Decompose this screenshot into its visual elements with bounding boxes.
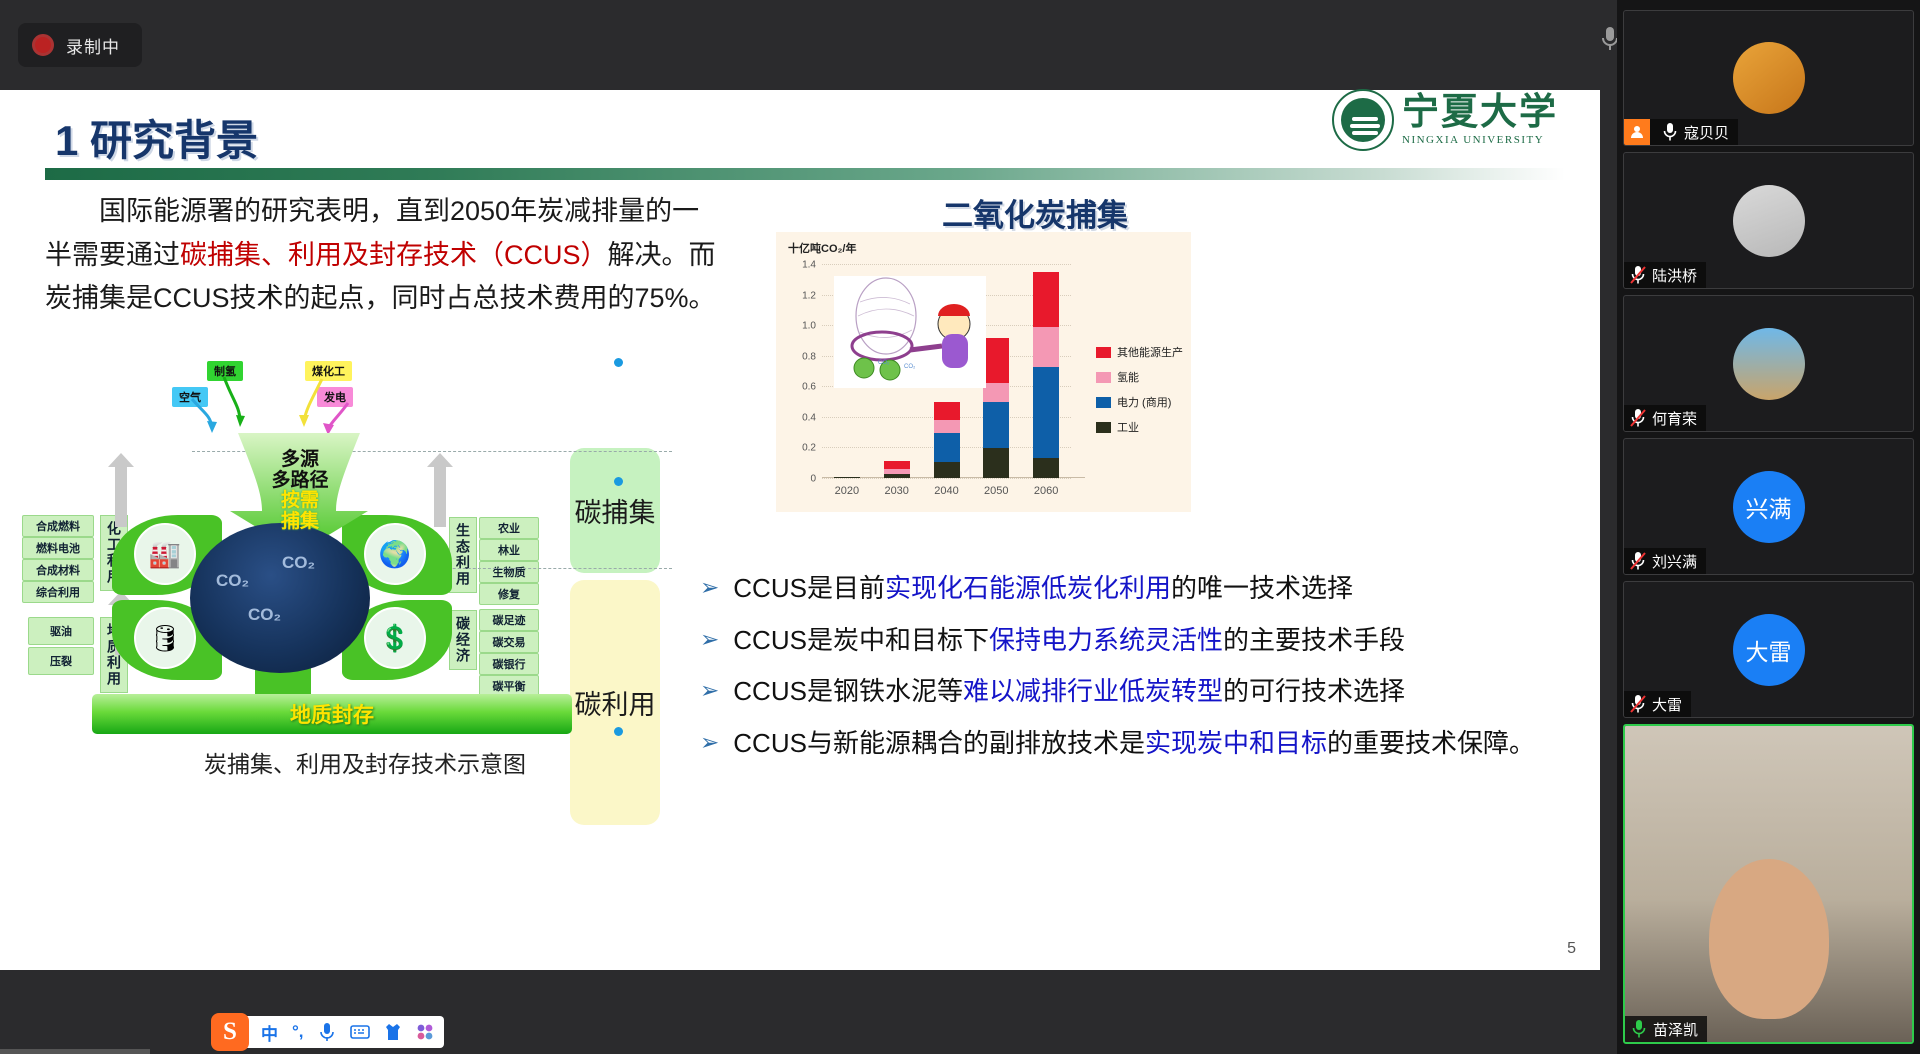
- panel-carbon-utilisation: 碳利用: [570, 580, 660, 825]
- chevron-right-icon: ➢: [700, 570, 719, 608]
- participant-tile[interactable]: 兴满刘兴满: [1623, 438, 1914, 575]
- legend-swatch: [1096, 422, 1111, 433]
- chart-legend-item: 氢能: [1096, 369, 1183, 385]
- participant-rail: 寇贝贝陆洪桥何育荣兴满刘兴满大雷大雷苗泽凯: [1617, 0, 1920, 1054]
- core-line-3: 按需: [240, 491, 360, 512]
- avatar: [1733, 328, 1805, 400]
- page-title: 1 研究背景: [55, 107, 258, 168]
- chart-bar-segment: [1033, 327, 1059, 367]
- bullet-text: CCUS是炭中和目标下保持电力系统灵活性的主要技术手段: [733, 622, 1405, 660]
- para-part-2-highlight: 碳捕集、利用及封存技术（CCUS）: [180, 240, 608, 270]
- participant-name: 陆洪桥: [1652, 265, 1697, 286]
- chart-legend-item: 工业: [1096, 419, 1183, 435]
- core-line-4: 捕集: [240, 512, 360, 533]
- shirt-icon[interactable]: [384, 1023, 402, 1041]
- storage-label: 地质封存: [290, 699, 374, 729]
- chart-legend: 其他能源生产氢能电力 (商用)工业: [1096, 344, 1183, 444]
- chart-y-tick: 1.4: [802, 260, 816, 271]
- carbon-econ-item-2: 碳银行: [479, 653, 539, 675]
- avatar: 兴满: [1733, 471, 1805, 543]
- chart-x-tick: 2060: [1034, 485, 1058, 497]
- record-dot-icon: [32, 34, 54, 56]
- chart-bar-segment: [934, 420, 960, 432]
- bullet-highlight: 实现炭中和目标: [1145, 728, 1327, 758]
- chart-legend-item: 其他能源生产: [1096, 344, 1183, 360]
- logo-english-name: NINGXIA UNIVERSITY: [1402, 134, 1558, 146]
- participant-tile[interactable]: 何育荣: [1623, 295, 1914, 432]
- participant-namebar: 苗泽凯: [1625, 1016, 1707, 1042]
- chart-x-tick: 2050: [984, 485, 1008, 497]
- mic-muted-icon: [1630, 551, 1646, 571]
- chem-item-1: 燃料电池: [22, 537, 94, 559]
- logo-chinese-name: 宁夏大学: [1402, 94, 1558, 131]
- chart-bar-segment: [983, 448, 1009, 478]
- sogou-ime-bar[interactable]: S 中 °,: [225, 1016, 444, 1048]
- legend-swatch: [1096, 372, 1111, 383]
- chart-bar-segment: [834, 477, 860, 478]
- seal-stripe: [1350, 124, 1380, 128]
- recording-label: 录制中: [66, 33, 120, 58]
- chem-item-0: 合成燃料: [22, 515, 94, 537]
- chevron-right-icon: ➢: [700, 622, 719, 660]
- geo-item-0: 驱油: [28, 617, 94, 645]
- participant-namebar: 大雷: [1624, 691, 1691, 717]
- chart-y-tick: 0.8: [802, 351, 816, 362]
- butterfly-net-illustration: CO₂ CO₂: [834, 276, 986, 388]
- participant-namebar: 寇贝贝: [1624, 119, 1738, 145]
- participant-namebar: 何育荣: [1624, 405, 1706, 431]
- bullet-plain: CCUS是目前: [733, 573, 885, 603]
- legend-swatch: [1096, 347, 1111, 358]
- carbon-econ-item-1: 碳交易: [479, 631, 539, 653]
- keyboard-icon[interactable]: [350, 1024, 370, 1040]
- bullet-item: ➢CCUS是炭中和目标下保持电力系统灵活性的主要技术手段: [700, 622, 1580, 660]
- intro-paragraph: 国际能源署的研究表明，直到2050年炭减排量的一半需要通过碳捕集、利用及封存技术…: [45, 190, 725, 321]
- chart-bar-segment: [1033, 367, 1059, 457]
- globe-co2-label: CO₂: [248, 605, 281, 625]
- participant-tile[interactable]: 大雷大雷: [1623, 581, 1914, 718]
- chem-item-2: 合成材料: [22, 559, 94, 581]
- core-line-1: 多源: [240, 450, 360, 471]
- bullet-highlight: 保持电力系统灵活性: [989, 625, 1223, 655]
- horizontal-scrollbar[interactable]: [0, 1049, 150, 1054]
- participant-name: 大雷: [1652, 694, 1682, 715]
- chart-y-tick: 1.2: [802, 290, 816, 301]
- eco-use-title: 生态利用: [449, 517, 477, 593]
- participant-tile[interactable]: 苗泽凯: [1623, 724, 1914, 1044]
- eco-item-1: 林业: [479, 539, 539, 561]
- bullet-plain: CCUS与新能源耦合的副排放技术是: [733, 728, 1145, 758]
- legend-label: 工业: [1117, 419, 1139, 435]
- chart-y-tick: 0.2: [802, 443, 816, 454]
- chart-y-tick: 0.4: [802, 412, 816, 423]
- up-arrow-icon: [115, 465, 127, 527]
- chart-bar-segment: [983, 338, 1009, 383]
- participant-name: 刘兴满: [1652, 551, 1697, 572]
- chart-gridline: 0: [822, 478, 1071, 479]
- bullet-list: ➢CCUS是目前实现化石能源低炭化利用的唯一技术选择➢CCUS是炭中和目标下保持…: [700, 570, 1580, 777]
- co2-capture-chart: 十亿吨CO₂/年 00.20.40.60.81.01.21.4202020302…: [776, 232, 1191, 512]
- taskbar: S 中 °,: [0, 1010, 1617, 1054]
- chart-bar: [934, 402, 960, 478]
- ime-language-toggle[interactable]: 中: [261, 1020, 278, 1045]
- legend-label: 电力 (商用): [1117, 394, 1171, 410]
- bullet-plain: 的主要技术手段: [1223, 625, 1405, 655]
- chart-bar: [983, 338, 1009, 478]
- legend-swatch: [1096, 397, 1111, 408]
- carbon-economy-icon: 💲: [364, 607, 426, 669]
- mic-icon: [1662, 122, 1678, 142]
- mic-icon: [1631, 1019, 1647, 1039]
- bullet-plain: 的重要技术保障。: [1327, 728, 1535, 758]
- globe-co2-label: CO₂: [216, 571, 249, 591]
- chart-bar-segment: [1033, 458, 1059, 478]
- carbon-economy-title: 碳经济: [449, 610, 477, 670]
- chart-bar-segment: [983, 402, 1009, 449]
- sogou-logo-icon[interactable]: S: [211, 1013, 249, 1051]
- avatar-initials: 大雷: [1733, 614, 1805, 686]
- chevron-right-icon: ➢: [700, 673, 719, 711]
- avatar-initials: 兴满: [1733, 471, 1805, 543]
- mic-icon[interactable]: [318, 1022, 336, 1042]
- participant-namebar: 陆洪桥: [1624, 262, 1706, 288]
- chart-gridline: 1.4: [822, 264, 1071, 265]
- earth-city-icon: 🌍: [364, 523, 426, 585]
- chart-bar: [1033, 272, 1059, 478]
- bullet-plain: CCUS是钢铁水泥等: [733, 676, 963, 706]
- carbon-econ-item-0: 碳足迹: [479, 609, 539, 631]
- seal-stripe: [1352, 117, 1378, 121]
- chart-y-axis-label: 十亿吨CO₂/年: [788, 240, 856, 256]
- chart-x-tick: 2040: [934, 485, 958, 497]
- mic-muted-icon: [1630, 408, 1646, 428]
- bullet-text: CCUS是钢铁水泥等难以减排行业低炭转型的可行技术选择: [733, 673, 1405, 711]
- bullet-item: ➢CCUS与新能源耦合的副排放技术是实现炭中和目标的重要技术保障。: [700, 725, 1580, 763]
- bullet-plain: 的可行技术选择: [1223, 676, 1405, 706]
- host-icon: [1624, 119, 1650, 145]
- chevron-right-icon: ➢: [700, 725, 719, 763]
- university-logo: 宁夏大学 NINGXIA UNIVERSITY: [1332, 85, 1582, 155]
- globe-co2-label: CO₂: [282, 553, 315, 573]
- eco-item-0: 农业: [479, 517, 539, 539]
- selection-handle[interactable]: [614, 727, 623, 736]
- mic-muted-icon: [1630, 694, 1646, 714]
- participant-name: 寇贝贝: [1684, 122, 1729, 143]
- chart-bar-segment: [934, 433, 960, 463]
- chart-legend-item: 电力 (商用): [1096, 394, 1183, 410]
- figure-caption: 炭捕集、利用及封存技术示意图: [45, 745, 685, 779]
- participant-tile[interactable]: 陆洪桥: [1623, 152, 1914, 289]
- chart-y-tick: 1.0: [802, 321, 816, 332]
- chart-y-tick: 0.6: [802, 382, 816, 393]
- presentation-slide: 1 研究背景 宁夏大学 NINGXIA UNIVERSITY 国际能源署的研究表…: [0, 90, 1600, 970]
- participant-namebar: 刘兴满: [1624, 548, 1706, 574]
- chart-y-tick: 0: [810, 474, 816, 485]
- participant-name: 何育荣: [1652, 408, 1697, 429]
- slide-page-number: 5: [1567, 940, 1576, 958]
- eco-item-2: 生物质: [479, 561, 539, 583]
- bullet-plain: CCUS是炭中和目标下: [733, 625, 989, 655]
- panel-carbon-capture: 碳捕集: [570, 448, 660, 573]
- participant-name: 苗泽凯: [1653, 1019, 1698, 1040]
- selection-handle[interactable]: [614, 358, 623, 367]
- mic-muted-icon: [1630, 265, 1646, 285]
- chart-bar: [834, 477, 860, 478]
- legend-label: 氢能: [1117, 369, 1139, 385]
- chart-bar-segment: [934, 402, 960, 421]
- bullet-highlight: 难以减排行业低炭转型: [963, 676, 1223, 706]
- speaker-face: [1709, 859, 1829, 1019]
- earth-globe-image: CO₂ CO₂ CO₂: [190, 523, 370, 673]
- apps-icon[interactable]: [416, 1023, 434, 1041]
- chart-bar-segment: [934, 462, 960, 478]
- video-feed: [1625, 726, 1912, 1042]
- bullet-highlight: 实现化石能源低炭化利用: [885, 573, 1171, 603]
- bullet-text: CCUS是目前实现化石能源低炭化利用的唯一技术选择: [733, 570, 1353, 608]
- diagram-core-label: 多源 多路径 按需 捕集: [240, 450, 360, 532]
- seal-stripe: [1352, 131, 1378, 135]
- geological-storage-bar: 地质封存: [92, 694, 572, 734]
- chart-bar-segment: [983, 383, 1009, 402]
- bullet-plain: 的唯一技术选择: [1171, 573, 1353, 603]
- factory-icon: 🏭: [134, 523, 196, 585]
- eco-item-3: 修复: [479, 583, 539, 605]
- legend-label: 其他能源生产: [1117, 344, 1183, 360]
- chart-bar: [884, 461, 910, 478]
- avatar: [1733, 42, 1805, 114]
- chart-x-tick: 2020: [835, 485, 859, 497]
- bullet-item: ➢CCUS是钢铁水泥等难以减排行业低炭转型的可行技术选择: [700, 673, 1580, 711]
- avatar: 大雷: [1733, 614, 1805, 686]
- chem-item-3: 综合利用: [22, 581, 94, 603]
- chart-bar-segment: [884, 461, 910, 470]
- bullet-item: ➢CCUS是目前实现化石能源低炭化利用的唯一技术选择: [700, 570, 1580, 608]
- oil-rig-icon: 🛢: [134, 607, 196, 669]
- bullet-text: CCUS与新能源耦合的副排放技术是实现炭中和目标的重要技术保障。: [733, 725, 1535, 763]
- selection-handle[interactable]: [614, 477, 623, 486]
- ime-punctuation-toggle[interactable]: °,: [292, 1022, 304, 1042]
- core-line-2: 多路径: [240, 471, 360, 492]
- avatar: [1733, 185, 1805, 257]
- svg-text:CO₂: CO₂: [878, 360, 890, 366]
- chart-bar-segment: [1033, 272, 1059, 327]
- chart-bar-segment: [884, 474, 910, 478]
- title-underline: [45, 168, 1565, 180]
- chart-x-tick: 2030: [884, 485, 908, 497]
- participant-tile[interactable]: 寇贝贝: [1623, 10, 1914, 146]
- chart-title: 二氧化炭捕集: [775, 190, 1295, 235]
- recording-indicator: 录制中: [18, 23, 142, 67]
- ningxia-seal-icon: [1332, 89, 1394, 151]
- svg-text:CO₂: CO₂: [904, 364, 916, 370]
- up-arrow-icon: [434, 465, 446, 527]
- geo-item-1: 压裂: [28, 647, 94, 675]
